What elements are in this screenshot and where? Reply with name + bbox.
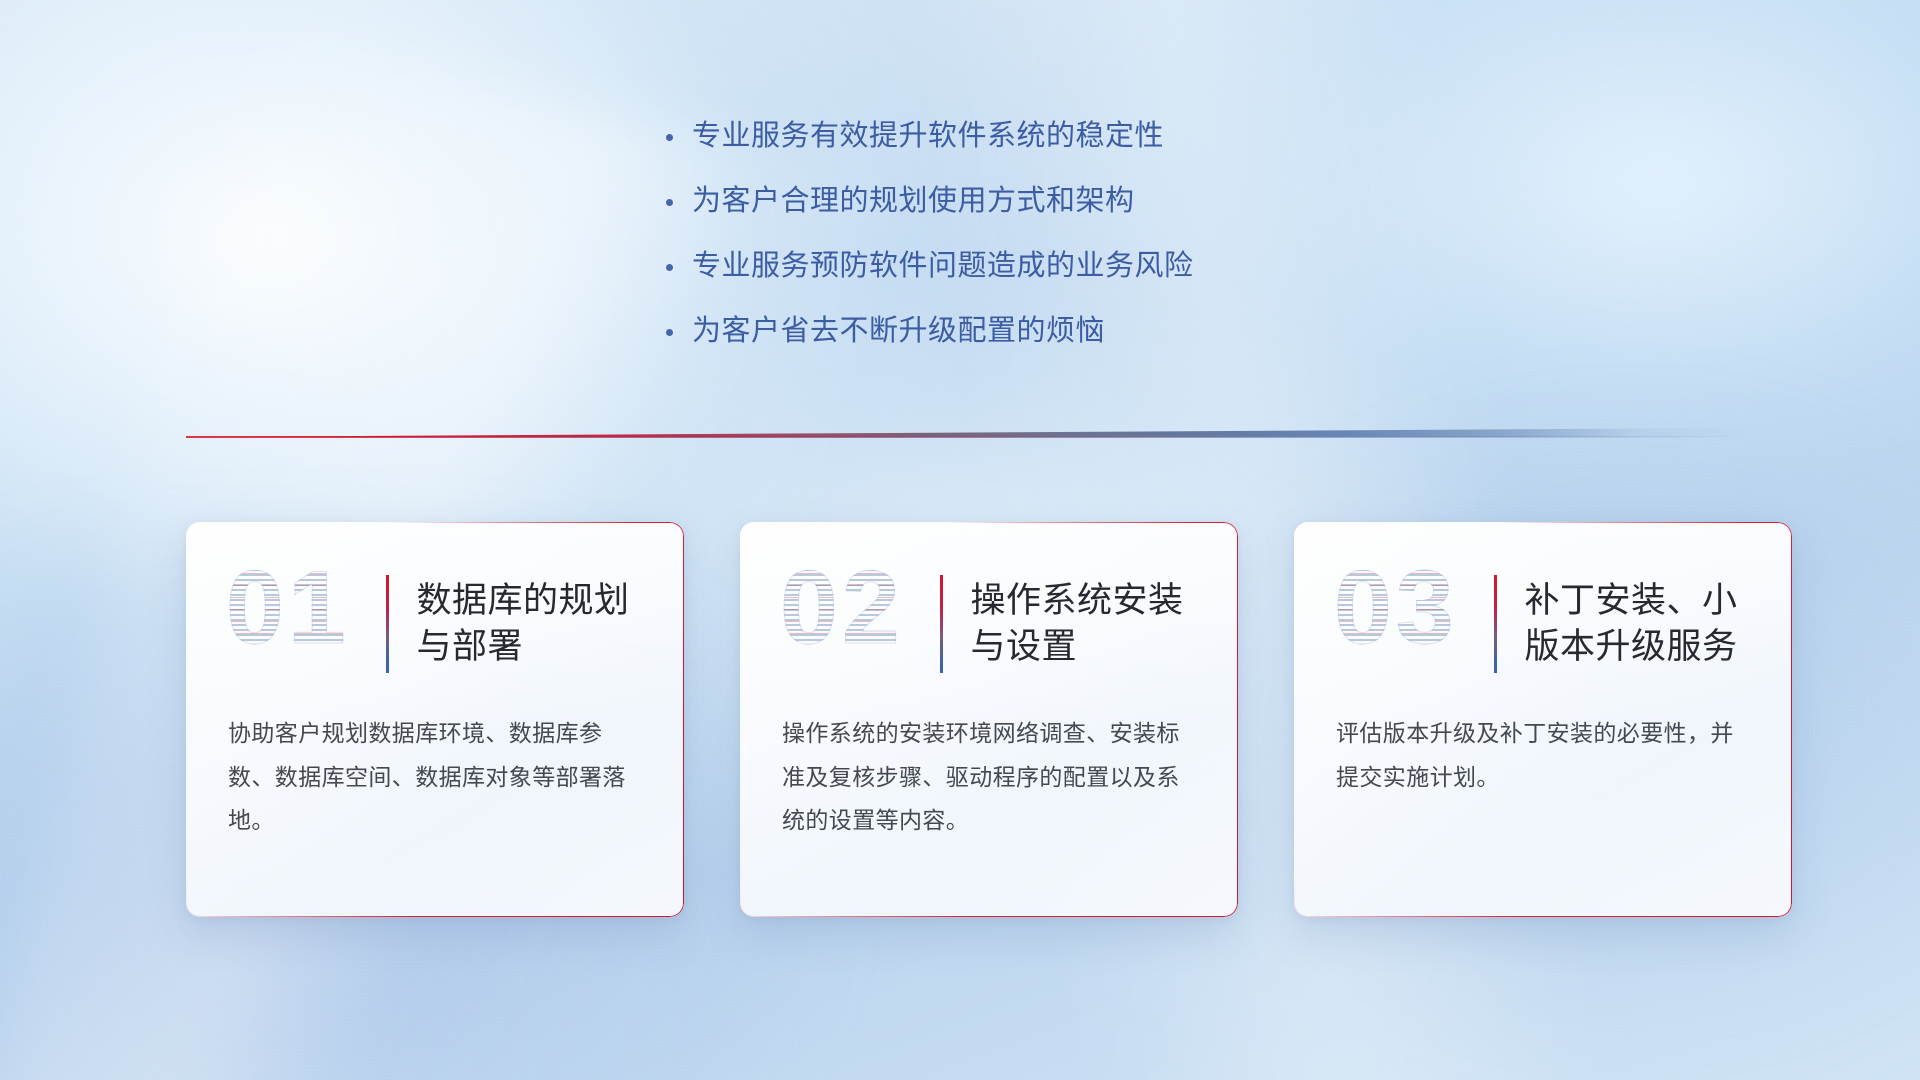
card-description: 协助客户规划数据库环境、数据库参数、数据库空间、数据库对象等部署落地。 bbox=[186, 692, 684, 843]
list-item: 专业服务预防软件问题造成的业务风险 bbox=[666, 242, 1426, 307]
bullet-point-icon bbox=[666, 122, 692, 141]
card-number-text-tint: 02 bbox=[780, 549, 904, 668]
bullet-point-icon bbox=[666, 317, 692, 336]
bullet-point-icon bbox=[666, 252, 692, 271]
card-header: 01 01 数据库的规划与部署 bbox=[186, 522, 684, 692]
card-header: 03 03 补丁安装、小版本升级服务 bbox=[1294, 522, 1792, 692]
bullet-text: 为客户合理的规划使用方式和架构 bbox=[692, 177, 1135, 219]
service-card-02[interactable]: 02 02 操作系统安装与设置 操作系统的安装环境网络调查、安装标准及复核步骤、… bbox=[740, 522, 1238, 917]
service-card-03[interactable]: 03 03 补丁安装、小版本升级服务 评估版本升级及补丁安装的必要性，并提交实施… bbox=[1294, 522, 1792, 917]
card-vertical-rule bbox=[386, 575, 389, 673]
card-description: 评估版本升级及补丁安装的必要性，并提交实施计划。 bbox=[1294, 692, 1792, 799]
bullet-text: 专业服务有效提升软件系统的稳定性 bbox=[692, 112, 1164, 154]
card-number-text-tint: 03 bbox=[1334, 549, 1458, 668]
section-divider bbox=[186, 424, 1746, 442]
bullet-point-icon bbox=[666, 187, 692, 206]
slide-content: 专业服务有效提升软件系统的稳定性 为客户合理的规划使用方式和架构 专业服务预防软… bbox=[0, 0, 1920, 1080]
card-number-watermark: 03 03 bbox=[1334, 563, 1486, 685]
card-number-text-tint: 01 bbox=[226, 549, 350, 668]
card-title: 操作系统安装与设置 bbox=[971, 578, 1205, 670]
service-card-01[interactable]: 01 01 数据库的规划与部署 协助客户规划数据库环境、数据库参数、数据库空间、… bbox=[186, 522, 684, 917]
list-item: 专业服务有效提升软件系统的稳定性 bbox=[666, 112, 1426, 177]
list-item: 为客户省去不断升级配置的烦恼 bbox=[666, 307, 1426, 372]
list-item: 为客户合理的规划使用方式和架构 bbox=[666, 177, 1426, 242]
card-title: 数据库的规划与部署 bbox=[417, 578, 651, 670]
card-vertical-rule bbox=[1494, 575, 1497, 673]
service-card-group: 01 01 数据库的规划与部署 协助客户规划数据库环境、数据库参数、数据库空间、… bbox=[186, 522, 1794, 917]
card-number-watermark: 02 02 bbox=[780, 563, 932, 685]
card-vertical-rule bbox=[940, 575, 943, 673]
bullet-text: 为客户省去不断升级配置的烦恼 bbox=[692, 307, 1105, 349]
card-title: 补丁安装、小版本升级服务 bbox=[1525, 578, 1759, 670]
divider-hairline bbox=[186, 436, 1746, 438]
card-number-watermark: 01 01 bbox=[226, 563, 378, 685]
bullet-text: 专业服务预防软件问题造成的业务风险 bbox=[692, 242, 1194, 284]
card-description: 操作系统的安装环境网络调查、安装标准及复核步骤、驱动程序的配置以及系统的设置等内… bbox=[740, 692, 1238, 843]
benefits-bullet-list: 专业服务有效提升软件系统的稳定性 为客户合理的规划使用方式和架构 专业服务预防软… bbox=[666, 112, 1426, 372]
card-header: 02 02 操作系统安装与设置 bbox=[740, 522, 1238, 692]
